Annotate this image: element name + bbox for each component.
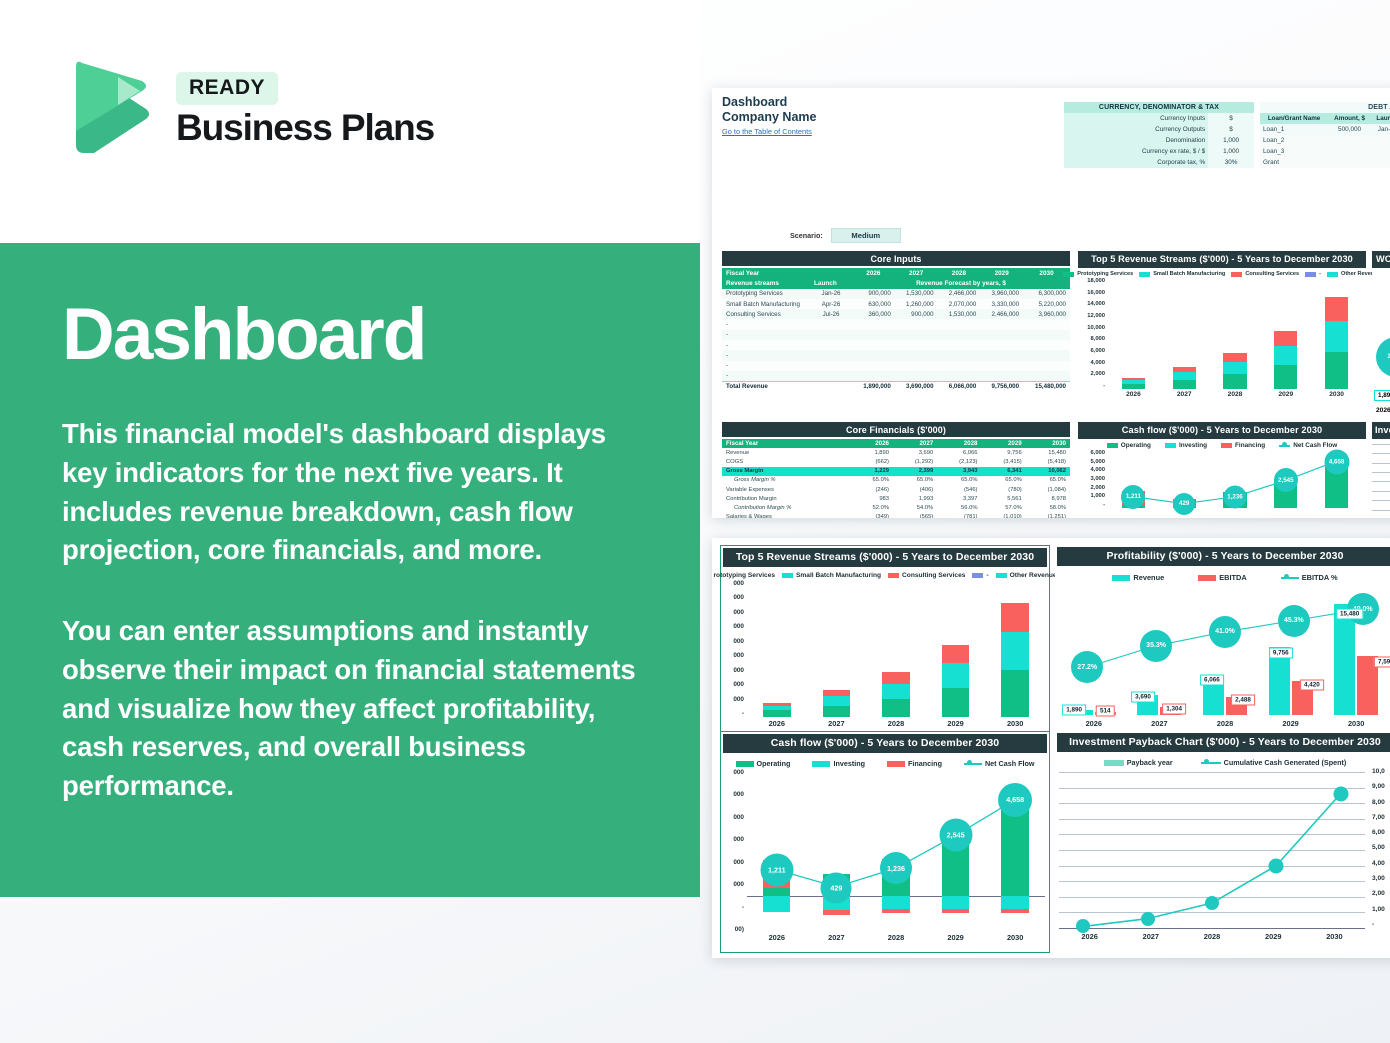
core-financials-banner: Core Financials ($'000)	[722, 422, 1070, 437]
y-tick: 2,000	[1078, 371, 1105, 377]
fin-cell: 15,480	[1026, 448, 1070, 457]
y-tick: -	[721, 904, 744, 911]
table-row: Consulting Services Jul-26 360,000 900,0…	[722, 309, 1070, 319]
total-revenue-value: 1,890,000	[852, 381, 895, 391]
table-row: Small Batch Manufacturing Apr-26 630,000…	[722, 299, 1070, 309]
chart-title: Cash flow ($'000) - 5 Years to December …	[1078, 422, 1366, 439]
fin-cell: (1,084)	[1026, 485, 1070, 494]
fin-row-label: Contribution Margin	[722, 494, 852, 503]
legend-label: Small Batch Manufacturing	[1153, 271, 1225, 277]
table-row: Loan_3	[1260, 146, 1390, 157]
x-axis: 2026 2027 2028 2029 2030	[747, 933, 1045, 949]
scenario-selector-row: Scenario: Medium	[790, 228, 901, 243]
debt-cell[interactable]: Loan_1	[1260, 124, 1328, 135]
total-revenue-value: 9,756,000	[980, 381, 1023, 391]
y-tick: 9,00	[1372, 783, 1390, 790]
year-header: 2030	[1026, 439, 1070, 448]
debt-col-header: Launch	[1371, 113, 1390, 124]
year-header: 2027	[893, 439, 937, 448]
legend-label: Net Cash Flow	[985, 759, 1035, 768]
legend-line-icon	[1201, 762, 1221, 764]
legend-swatch-icon	[1221, 443, 1232, 448]
data-bubble: 1,236	[880, 852, 912, 884]
chart-profitability: Profitability ($'000) - 5 Years to Decem…	[1055, 545, 1390, 741]
data-bubble: 1,211	[1121, 485, 1145, 509]
plot-area	[747, 584, 1045, 717]
data-bubble: 2,545	[1274, 468, 1298, 492]
x-tick: 2030	[1311, 391, 1362, 407]
bar-group	[985, 584, 1045, 717]
y-tick: 000	[721, 881, 744, 888]
legend-item: Consulting Services	[888, 572, 965, 579]
chart-legend: Prototyping Services Small Batch Manufac…	[1078, 268, 1366, 278]
fin-cell: (662)	[852, 457, 893, 466]
bar-value-label: 2,488	[1231, 694, 1255, 705]
bar-group	[866, 584, 926, 717]
bar-value-label: 1,304	[1162, 703, 1186, 714]
currency-row-value[interactable]: 1,000	[1208, 146, 1254, 157]
chart-title: Top 5 Revenue Streams ($'000) - 5 Years …	[723, 548, 1047, 567]
legend-swatch-icon	[1231, 272, 1242, 277]
debt-assumptions-table: DEBT ASSUMPTIONS Loan/Grant Name Amount,…	[1260, 102, 1390, 168]
legend-swatch-icon	[888, 573, 899, 578]
stream-value[interactable]: 5,220,000	[1023, 299, 1070, 309]
bar-value-label: 514	[1096, 705, 1115, 716]
stream-value[interactable]: 1,530,000	[938, 309, 981, 319]
fin-cell: 3,690	[893, 448, 937, 457]
legend-swatch-icon	[1107, 443, 1118, 448]
legend-label: EBITDA	[1219, 573, 1247, 582]
data-point	[1141, 912, 1155, 926]
fin-cell: 1,229	[852, 467, 893, 476]
legend-swatch-icon	[1327, 272, 1338, 277]
debt-cell[interactable]: Jan-26	[1371, 124, 1390, 135]
stream-name[interactable]: -	[722, 340, 810, 350]
data-label: 1,890	[1374, 390, 1390, 401]
debt-table-title: DEBT ASSUMPTIONS	[1260, 102, 1390, 113]
stream-name[interactable]: -	[722, 330, 810, 340]
core-inputs-banner: Core Inputs	[722, 251, 1070, 266]
core-inputs-table: Fiscal Year 2026 2027 2028 2029 2030 Rev…	[722, 268, 1070, 392]
fin-cell: (246)	[852, 485, 893, 494]
core-financials-table: Fiscal Year 2026 2027 2028 2029 2030 Rev…	[722, 439, 1070, 518]
stream-name[interactable]: -	[722, 361, 810, 371]
table-row: COGS(662)(1,292)(2,123)(3,415)(5,418)	[722, 457, 1070, 466]
y-axis: 000 000 000 000 000 000 000 000 000 -	[721, 580, 747, 717]
legend-item: Net Cash Flow	[964, 759, 1035, 768]
fin-cell: 58.0%	[1026, 503, 1070, 512]
fin-cell: 57.0%	[981, 503, 1025, 512]
y-tick: 18,000	[1078, 278, 1105, 284]
y-tick: 000	[721, 859, 744, 866]
legend-label: Small Batch Manufacturing	[796, 572, 881, 579]
stream-value[interactable]: 6,300,000	[1023, 289, 1070, 299]
stream-launch[interactable]: Jan-26	[810, 289, 852, 299]
fin-cell: 65.0%	[893, 476, 937, 485]
currency-row-value[interactable]: $	[1208, 113, 1254, 124]
table-row: -	[722, 319, 1070, 329]
legend-item: Net Cash Flow	[1279, 442, 1337, 449]
debt-cell[interactable]	[1328, 146, 1371, 157]
legend-item: rototyping Services	[713, 572, 775, 579]
table-row: -	[722, 361, 1070, 371]
x-tick: 2030	[1304, 932, 1365, 948]
fin-cell: 5,561	[981, 494, 1025, 503]
data-bubble: 429	[821, 873, 852, 904]
y-tick: 000	[721, 652, 744, 659]
total-revenue-value: 15,480,000	[1023, 381, 1070, 391]
y-tick: 000	[721, 836, 744, 843]
revenue-streams-label: Revenue streams	[722, 278, 810, 288]
fin-cell: 8,978	[1026, 494, 1070, 503]
stream-value[interactable]: 900,000	[852, 289, 895, 299]
fin-cell: 65.0%	[852, 476, 893, 485]
y-tick: 8,00	[1372, 799, 1390, 806]
x-tick: 2027	[1159, 391, 1210, 407]
legend-swatch-icon	[1063, 272, 1074, 277]
fin-row-label: Revenue	[722, 448, 852, 457]
table-row: -	[722, 330, 1070, 340]
fin-cell: 1,993	[893, 494, 937, 503]
legend-item: Small Batch Manufacturing	[1139, 271, 1225, 277]
x-tick: 2028	[866, 933, 926, 949]
y-tick: 2,000	[1078, 485, 1105, 491]
x-tick: 2030	[985, 933, 1045, 949]
table-row: Loan_2	[1260, 135, 1390, 146]
legend-label: Payback year	[1127, 758, 1173, 767]
currency-row-value[interactable]: 30%	[1208, 157, 1254, 168]
stream-value[interactable]: 2,070,000	[938, 299, 981, 309]
fin-cell: 56.0%	[937, 503, 981, 512]
brand-logo: READY Business Plans	[60, 57, 434, 157]
chart-title: Cash flow ($'000) - 5 Years to December …	[723, 734, 1047, 753]
chart-title-partial: Inve	[1372, 422, 1390, 439]
total-revenue-row: Total Revenue 1,890,000 3,690,000 6,066,…	[722, 381, 1070, 391]
legend-item: Operating	[1107, 442, 1151, 449]
y-tick: 12,000	[1078, 313, 1105, 319]
stream-value[interactable]: 3,330,000	[980, 299, 1023, 309]
legend-item: -	[1305, 271, 1321, 277]
fin-cell: (546)	[937, 485, 981, 494]
currency-row-label: Currency ex rate, $ / $	[1064, 146, 1208, 157]
x-tick: 2029	[926, 933, 986, 949]
x-tick: 2029	[1243, 932, 1304, 948]
bar-group	[1159, 282, 1210, 389]
year-header: 2026	[852, 439, 893, 448]
legend-swatch-icon	[1198, 575, 1216, 581]
y-tick: 000	[721, 609, 744, 616]
legend-label: Financing	[908, 759, 942, 768]
legend-item: -	[972, 572, 988, 579]
fin-cell: (2,123)	[937, 457, 981, 466]
stream-value[interactable]: 3,960,000	[1023, 309, 1070, 319]
x-tick: 2028	[1210, 391, 1261, 407]
dashboard-sheet-top: Dashboard Company Name Go to the Table o…	[712, 88, 1390, 518]
currency-row-value[interactable]: 1,000	[1208, 135, 1254, 146]
legend-item: EBITDA	[1198, 573, 1247, 582]
currency-row-label: Currency Outputs	[1064, 124, 1208, 135]
legend-label: Revenue	[1133, 573, 1164, 582]
fin-cell: 1,890	[852, 448, 893, 457]
debt-cell[interactable]	[1328, 135, 1371, 146]
stream-name[interactable]: Small Batch Manufacturing	[722, 299, 810, 309]
data-point	[1269, 858, 1284, 873]
data-bubble: 1,211	[760, 853, 793, 886]
debt-cell[interactable]: Loan_3	[1260, 146, 1328, 157]
stream-value[interactable]: 3,960,000	[980, 289, 1023, 299]
bar-value-label: 9,756	[1269, 648, 1293, 659]
bar-group	[1108, 282, 1159, 389]
y-tick: 3,000	[1078, 476, 1105, 482]
stream-name[interactable]: -	[722, 350, 810, 360]
stream-name[interactable]: Prototyping Services	[722, 289, 810, 299]
x-tick: 2026	[747, 933, 807, 949]
y-tick: -	[721, 710, 744, 717]
legend-item: Consulting Services	[1231, 271, 1299, 277]
bar-value-label: 6,066	[1200, 674, 1224, 685]
chart-investment-partial: Inve	[1372, 422, 1390, 518]
table-row: -	[722, 371, 1070, 381]
stream-name[interactable]: -	[722, 371, 810, 381]
y-tick: -	[1078, 383, 1105, 389]
stream-value[interactable]: 630,000	[852, 299, 895, 309]
legend-label: -	[986, 572, 988, 579]
stream-launch[interactable]: Jul-26	[810, 309, 852, 319]
forecast-label: Revenue Forecast by years, $	[852, 278, 1070, 288]
y-tick: 000	[721, 623, 744, 630]
debt-cell[interactable]: Loan_2	[1260, 135, 1328, 146]
y-tick: 6,00	[1372, 829, 1390, 836]
legend-item: Financing	[887, 759, 942, 768]
chart-legend: Operating Investing Financing Net Cash F…	[721, 755, 1049, 769]
y-tick: 000	[721, 681, 744, 688]
fin-cell: (3,415)	[981, 457, 1025, 466]
chart-cash-flow-bottom: Cash flow ($'000) - 5 Years to December …	[720, 731, 1050, 953]
fiscal-year-label: Fiscal Year	[722, 439, 852, 448]
data-bubble: 4,658	[998, 783, 1032, 817]
y-axis: 000 000 000 000 000 000 - 00)	[721, 769, 747, 933]
currency-row-label: Denomination	[1064, 135, 1208, 146]
legend-swatch-icon	[782, 573, 793, 578]
legend-swatch-icon	[972, 573, 983, 578]
currency-denominator-tax-table: CURRENCY, DENOMINATOR & TAX Currency Inp…	[1064, 102, 1254, 168]
stream-name[interactable]: Consulting Services	[722, 309, 810, 319]
fin-cell: (1,251)	[1026, 513, 1070, 519]
bar-group	[926, 584, 986, 717]
y-tick: 000	[721, 791, 744, 798]
fin-cell: 65.0%	[981, 476, 1025, 485]
fiscal-year-label: Fiscal Year	[722, 268, 810, 278]
legend-item: EBITDA %	[1281, 573, 1338, 582]
table-row: Contribution Margin %52.0%54.0%56.0%57.0…	[722, 503, 1070, 512]
y-tick: 5,00	[1372, 844, 1390, 851]
legend-item: Financing	[1221, 442, 1265, 449]
stream-value[interactable]: 1,530,000	[895, 289, 938, 299]
y-tick: 000	[721, 667, 744, 674]
y-tick: 6,000	[1078, 348, 1105, 354]
chart-title: Investment Payback Chart ($'000) - 5 Yea…	[1057, 733, 1390, 752]
fin-cell: (1,292)	[893, 457, 937, 466]
plot-area	[1059, 772, 1365, 928]
sheet-title: Dashboard	[722, 95, 816, 110]
legend-label: -	[1319, 271, 1321, 277]
y-axis-right: 10,0 9,00 8,00 7,00 6,00 5,00 4,00 3,00 …	[1369, 768, 1390, 928]
legend-item: Investing	[812, 759, 865, 768]
table-row: -	[722, 350, 1070, 360]
fin-cell: (565)	[893, 513, 937, 519]
currency-row-label: Currency Inputs	[1064, 113, 1208, 124]
y-tick: 1,00	[1372, 906, 1390, 913]
stream-value[interactable]: 2,466,000	[938, 289, 981, 299]
legend-swatch-icon	[887, 761, 905, 767]
fin-cell: 983	[852, 494, 893, 503]
legend-label: Financing	[1235, 442, 1265, 449]
debt-col-header: Loan/Grant Name	[1260, 113, 1328, 124]
fin-row-label: Variable Expenses	[722, 485, 852, 494]
legend-label: Prototyping Services	[1077, 271, 1133, 277]
y-tick: 16,000	[1078, 290, 1105, 296]
fin-cell: 6,066	[937, 448, 981, 457]
data-bubble: 27.2%	[1376, 337, 1390, 377]
currency-row-label: Corporate tax, %	[1064, 157, 1208, 168]
chart-title: Profitability ($'000) - 5 Years to Decem…	[1057, 547, 1390, 566]
fin-cell: (781)	[937, 513, 981, 519]
chart-legend: Revenue EBITDA EBITDA %	[1055, 568, 1390, 583]
data-bubble: 45.3%	[1278, 605, 1310, 637]
legend-swatch-icon	[1139, 272, 1150, 277]
y-tick: -	[1078, 502, 1105, 508]
plot-area: 1,211 429 1,236 2,545 4,658	[747, 773, 1045, 929]
panel-paragraph-2: You can enter assumptions and instantly …	[62, 612, 640, 806]
table-of-contents-link[interactable]: Go to the Table of Contents	[722, 127, 816, 136]
legend-item: Cumulative Cash Generated (Spent)	[1201, 758, 1347, 767]
scenario-label: Scenario:	[790, 231, 823, 240]
bar-group	[1260, 282, 1311, 389]
legend-line-icon	[1279, 445, 1290, 447]
table-row: Salaries & Wages(349)(565)(781)(1,010)(1…	[722, 513, 1070, 519]
legend-label: Consulting Services	[902, 572, 965, 579]
y-tick: -	[1372, 921, 1390, 928]
bar-group	[807, 584, 867, 717]
debt-col-header: Amount, $	[1328, 113, 1371, 124]
fin-cell: 3,943	[937, 467, 981, 476]
stream-value[interactable]: 2,466,000	[980, 309, 1023, 319]
legend-line-icon	[964, 763, 982, 765]
debt-cell[interactable]: 500,000	[1328, 124, 1371, 135]
data-point	[1205, 896, 1219, 910]
sheet-company-name: Company Name	[722, 110, 816, 125]
y-tick: 000	[721, 696, 744, 703]
chart-legend: rototyping Services Small Batch Manufact…	[721, 569, 1049, 580]
fin-cell: (1,010)	[981, 513, 1025, 519]
data-bubble: 35.3%	[1140, 630, 1172, 662]
table-row: Loan_1 500,000 Jan-26 72 8.0% Annuity	[1260, 124, 1390, 135]
chart-revenue-streams-bottom: Top 5 Revenue Streams ($'000) - 5 Years …	[720, 545, 1050, 741]
launch-label: Launch	[810, 278, 852, 288]
currency-table-title: CURRENCY, DENOMINATOR & TAX	[1064, 102, 1254, 113]
x-axis: 2026 2027 2028 2029 2030	[1108, 391, 1362, 407]
chart-legend: Payback year Cumulative Cash Generated (…	[1055, 754, 1390, 768]
fin-row-label: Contribution Margin %	[722, 503, 852, 512]
y-tick: 00)	[721, 926, 744, 933]
x-tick: 2026	[1376, 407, 1390, 414]
bar-value-label: 1,890	[1062, 704, 1086, 715]
scenario-dropdown[interactable]: Medium	[831, 228, 901, 243]
legend-item: Prototyping Services	[1063, 271, 1133, 277]
x-tick: 2029	[1260, 391, 1311, 407]
chart-partial-top-right: WOR 27.2% 1,890 2026	[1372, 251, 1390, 416]
fin-row-label: Salaries & Wages	[722, 513, 852, 519]
fin-cell: 54.0%	[893, 503, 937, 512]
fin-cell: (5,418)	[1026, 457, 1070, 466]
stream-value[interactable]: 1,260,000	[895, 299, 938, 309]
x-tick: 2026	[1059, 932, 1120, 948]
y-axis: 6,000 5,000 4,000 3,000 2,000 1,000 -	[1078, 450, 1108, 508]
year-header: 2027	[895, 268, 938, 278]
y-tick: 000	[721, 814, 744, 821]
legend-label: Investing	[1179, 442, 1207, 449]
debt-cell[interactable]	[1371, 157, 1390, 168]
bar-group	[1311, 282, 1362, 389]
year-header: 2028	[938, 268, 981, 278]
legend-label: Other Revenue	[1010, 572, 1057, 579]
currency-row-value[interactable]: $	[1208, 124, 1254, 135]
bar-value-label: 7,59	[1374, 657, 1390, 668]
debt-cell[interactable]: Grant	[1260, 157, 1328, 168]
year-header: 2026	[852, 268, 895, 278]
fin-cell: 65.0%	[1026, 476, 1070, 485]
chart-title-partial: WOR	[1372, 251, 1390, 268]
stream-name[interactable]: -	[722, 319, 810, 329]
chart-title: Top 5 Revenue Streams ($'000) - 5 Years …	[1078, 251, 1366, 268]
x-axis: 2026 2027 2028 2029 2030	[1059, 932, 1365, 948]
year-header: 2029	[981, 439, 1025, 448]
fin-cell: 52.0%	[852, 503, 893, 512]
stream-value[interactable]: 360,000	[852, 309, 895, 319]
legend-swatch-icon	[1305, 272, 1316, 277]
debt-cell[interactable]	[1328, 157, 1371, 168]
y-tick: 10,0	[1372, 768, 1390, 775]
y-tick: 2,00	[1372, 890, 1390, 897]
plot-area: 1,211 429 1,236 2,545 4,658	[1108, 454, 1362, 508]
hero-panel: Dashboard This financial model's dashboa…	[0, 243, 700, 897]
y-tick: 000	[721, 580, 744, 587]
legend-label: Consulting Services	[1245, 271, 1299, 277]
ready-badge: READY	[176, 72, 278, 105]
debt-cell[interactable]	[1371, 135, 1390, 146]
y-tick: 000	[721, 594, 744, 601]
data-bubble: 27.2%	[1071, 651, 1103, 683]
legend-label: Operating	[757, 759, 791, 768]
chart-revenue-streams-top: Top 5 Revenue Streams ($'000) - 5 Years …	[1078, 251, 1366, 416]
year-header: 2029	[980, 268, 1023, 278]
bar-value-label: 15,480	[1336, 609, 1363, 620]
legend-label: Operating	[1121, 442, 1151, 449]
y-tick: 8,000	[1078, 336, 1105, 342]
debt-cell[interactable]	[1371, 146, 1390, 157]
x-tick: 2028	[1181, 932, 1242, 948]
fin-cell: 6,341	[981, 467, 1025, 476]
table-row: Revenue1,8903,6906,0669,75615,480	[722, 448, 1070, 457]
stream-launch[interactable]: Apr-26	[810, 299, 852, 309]
stream-value[interactable]: 900,000	[895, 309, 938, 319]
year-header: 2028	[937, 439, 981, 448]
bar-group	[1210, 282, 1261, 389]
legend-swatch-icon	[996, 573, 1007, 578]
fin-cell: 10,062	[1026, 467, 1070, 476]
brand-name: Business Plans	[176, 109, 434, 148]
fin-row-label: Gross Margin %	[722, 476, 852, 485]
